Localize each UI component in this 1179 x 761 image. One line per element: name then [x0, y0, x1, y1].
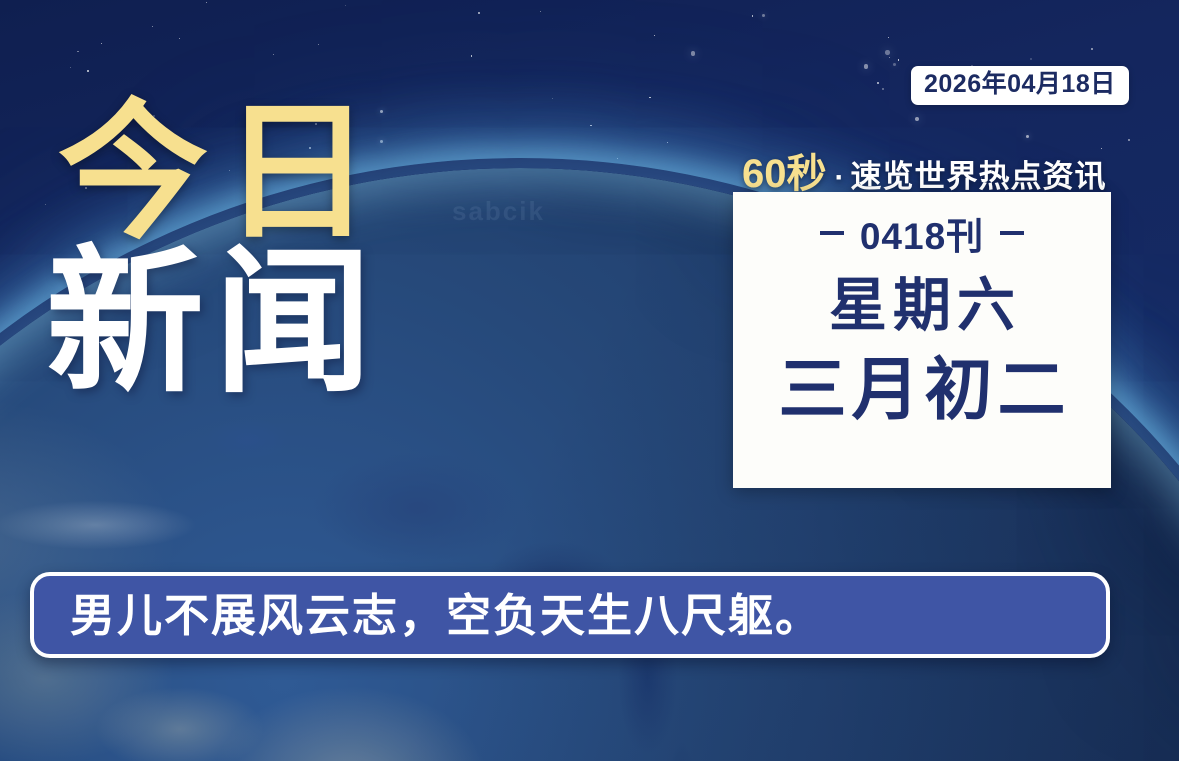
tagline: 60秒 · 速览世界热点资讯 — [742, 141, 1107, 199]
weekday-label: 星期六 — [823, 276, 1021, 337]
watermark-text: sabcik — [452, 196, 545, 227]
title-line-jinri: 今日 — [58, 96, 386, 249]
issue-number-row: 0418刊 — [820, 206, 1024, 260]
issue-dash-right — [1000, 231, 1024, 235]
issue-number: 0418刊 — [860, 206, 984, 260]
quote-bar: 男儿不展风云志，空负天生八尺躯。 — [30, 572, 1110, 658]
tagline-separator-dot: · — [835, 161, 845, 195]
lunar-date-label: 三月初二 — [773, 355, 1070, 426]
news-poster: sabcik 今日 新闻 2026年04月18日 60秒 · 速览世界热点资讯 … — [0, 0, 1179, 761]
date-info-card: 0418刊 星期六 三月初二 — [733, 192, 1111, 488]
date-badge: 2026年04月18日 — [911, 66, 1129, 105]
issue-dash-left — [820, 231, 844, 235]
tagline-description: 速览世界热点资讯 — [851, 151, 1107, 196]
poster-title: 今日 新闻 — [58, 96, 386, 404]
title-line-xinwen: 新闻 — [46, 243, 386, 404]
quote-text: 男儿不展风云志，空负天生八尺躯。 — [34, 593, 822, 638]
tagline-seconds: 60秒 — [742, 141, 827, 199]
